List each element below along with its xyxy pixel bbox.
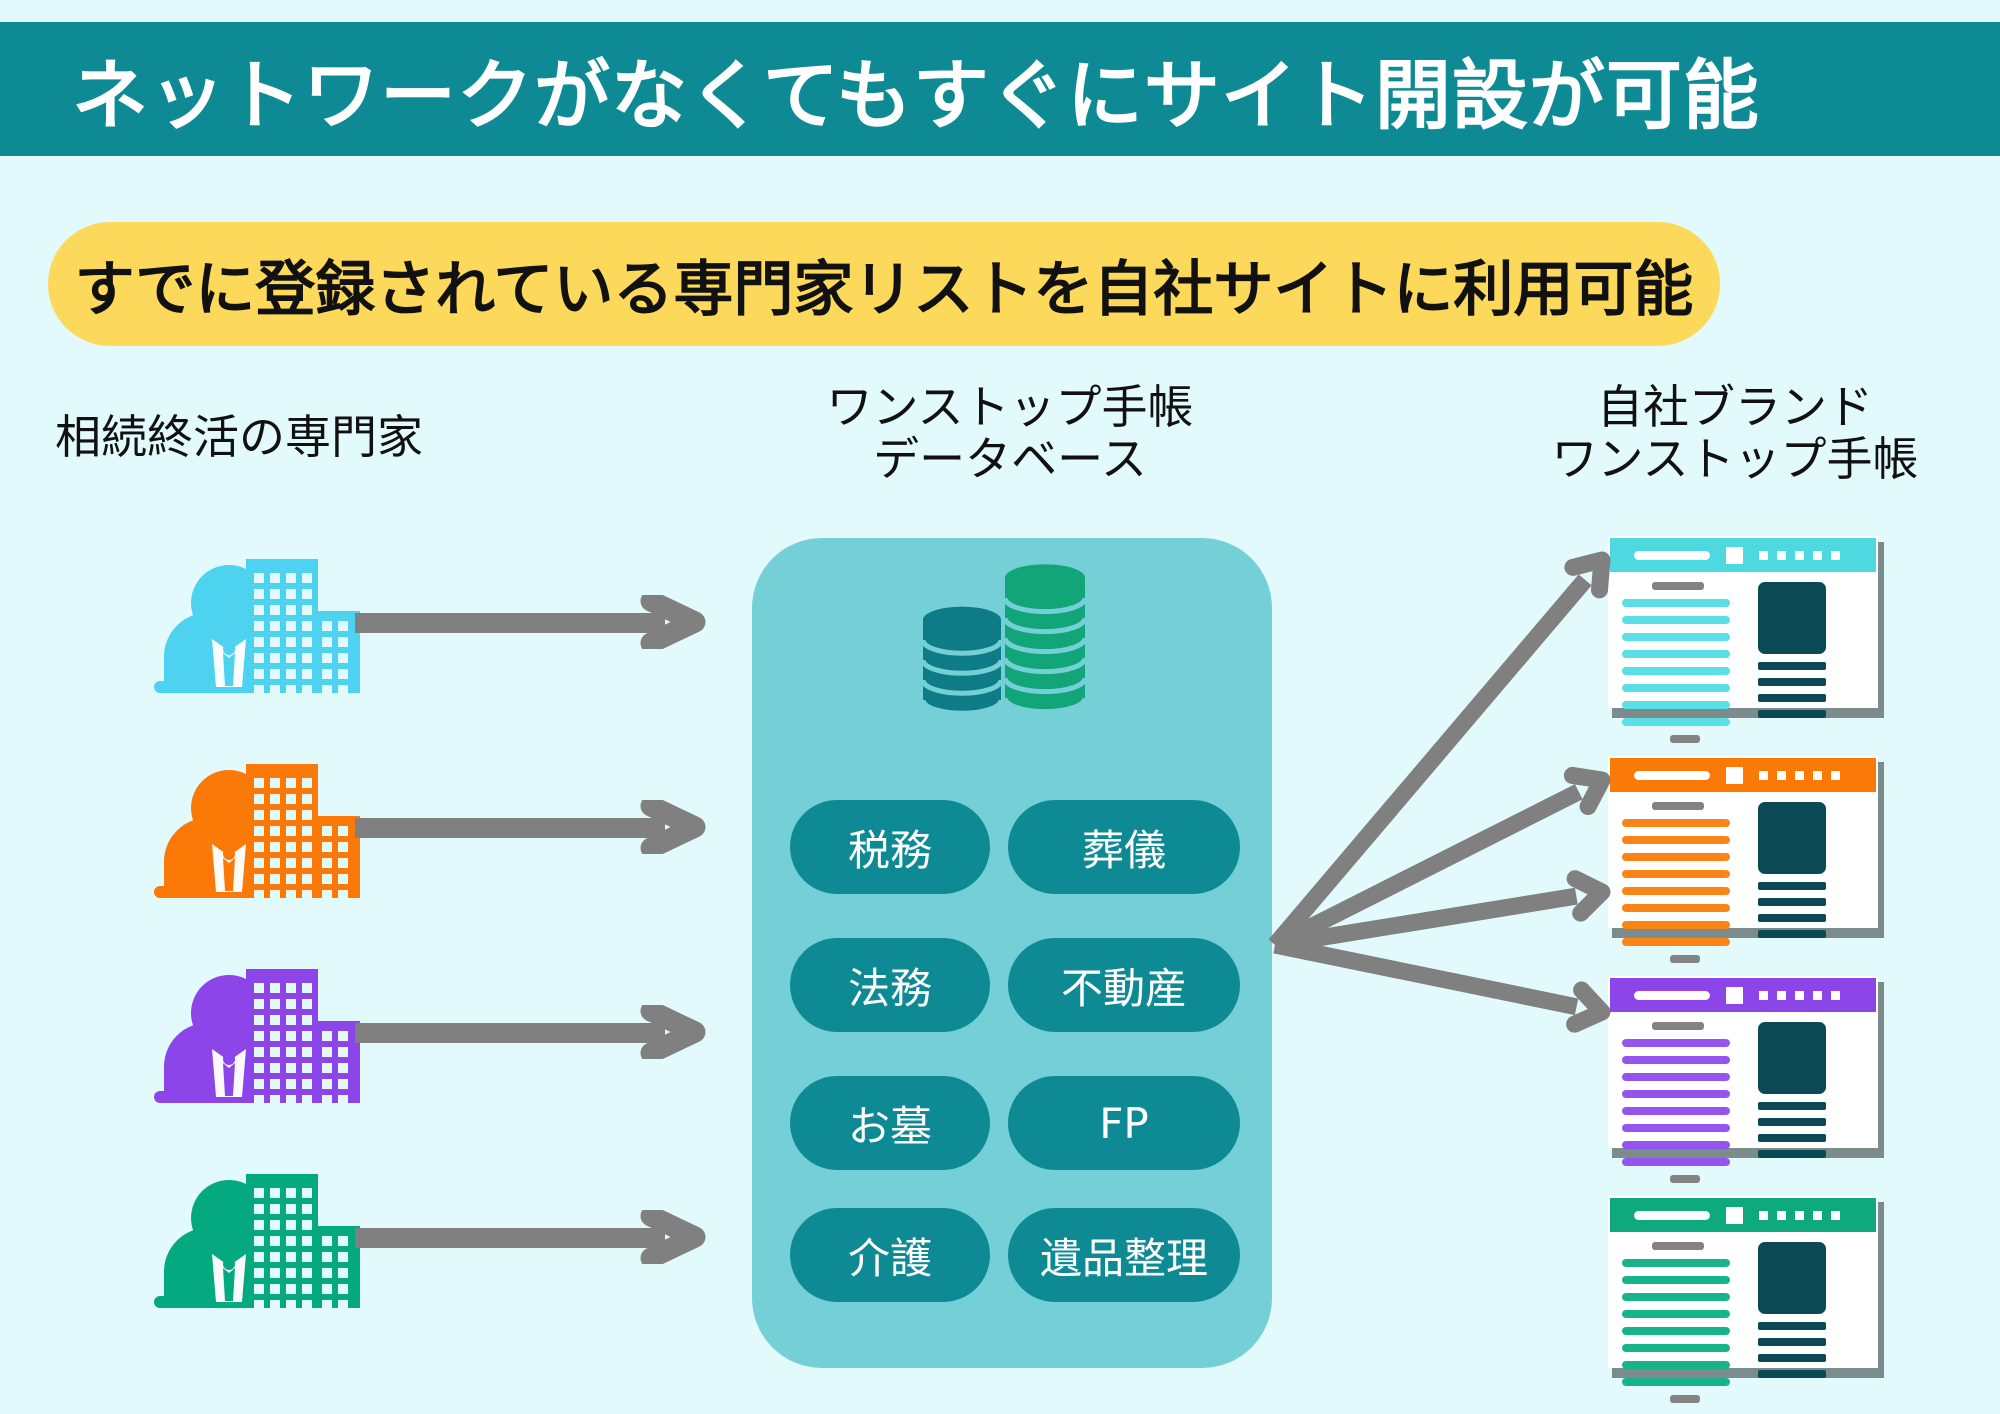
site-image-block xyxy=(1758,1242,1826,1314)
category-pill[interactable]: 遺品整理 xyxy=(1008,1208,1240,1302)
column-header-sites: 自社ブランド ワンストップ手帳 xyxy=(1470,382,2000,485)
sidebar-line xyxy=(1758,914,1826,922)
site-menu-square xyxy=(1726,987,1743,1004)
site-menu-square xyxy=(1726,547,1743,564)
content-line xyxy=(1622,1158,1730,1166)
fan-out-arrows xyxy=(1250,500,1670,1060)
browser-dot xyxy=(1795,551,1804,560)
flow-arrow-to-database xyxy=(355,595,735,649)
column-header-database-line1: ワンストップ手帳 xyxy=(700,382,1320,434)
site-nav-dots xyxy=(1759,771,1849,780)
content-line xyxy=(1622,1310,1730,1318)
sidebar-line xyxy=(1758,1150,1826,1158)
column-header-experts: 相続終活の専門家 xyxy=(55,412,423,464)
site-article-column xyxy=(1622,1242,1730,1403)
browser-dot xyxy=(1831,991,1840,1000)
sidebar-line xyxy=(1758,1134,1826,1142)
content-line xyxy=(1622,1107,1730,1115)
site-card-green[interactable] xyxy=(1608,1196,1878,1368)
browser-dot xyxy=(1831,1211,1840,1220)
sidebar-line xyxy=(1758,1370,1826,1378)
sidebar-line xyxy=(1758,710,1826,718)
content-line xyxy=(1622,1073,1730,1081)
sidebar-line xyxy=(1758,1102,1826,1110)
browser-dot xyxy=(1831,771,1840,780)
browser-dot xyxy=(1777,551,1786,560)
flow-arrow-to-database xyxy=(355,1210,735,1264)
site-body xyxy=(1610,1232,1876,1370)
sidebar-line xyxy=(1758,882,1826,890)
sidebar-line xyxy=(1758,898,1826,906)
browser-dot xyxy=(1795,1211,1804,1220)
sidebar-line xyxy=(1758,694,1826,702)
sidebar-line xyxy=(1758,930,1826,938)
browser-dot xyxy=(1759,551,1768,560)
site-header-bar xyxy=(1610,1198,1876,1232)
content-line xyxy=(1622,1378,1730,1386)
site-logo-pill xyxy=(1634,1211,1710,1220)
site-nav-dots xyxy=(1759,991,1849,1000)
site-footer-bar xyxy=(1670,1395,1700,1403)
site-nav-dots xyxy=(1759,551,1849,560)
category-pill[interactable]: FP xyxy=(1008,1076,1240,1170)
sidebar-line xyxy=(1758,1118,1826,1126)
site-footer-bar xyxy=(1670,1175,1700,1183)
column-header-database: ワンストップ手帳 データベース xyxy=(700,382,1320,485)
flow-arrow-to-database xyxy=(355,800,735,854)
content-line xyxy=(1622,1259,1730,1267)
expert-orange-icon xyxy=(150,760,330,890)
browser-dot xyxy=(1795,771,1804,780)
category-pill[interactable]: 税務 xyxy=(790,800,990,894)
browser-dot xyxy=(1777,771,1786,780)
expert-row xyxy=(150,1170,730,1310)
browser-dot xyxy=(1795,991,1804,1000)
site-media-column xyxy=(1758,582,1830,718)
site-heading-bar xyxy=(1652,1242,1704,1250)
expert-row xyxy=(150,965,730,1105)
site-image-block xyxy=(1758,582,1826,654)
sidebar-line xyxy=(1758,1338,1826,1346)
site-footer-bar xyxy=(1670,735,1700,743)
sidebar-line xyxy=(1758,1322,1826,1330)
site-footer-bar xyxy=(1670,955,1700,963)
category-pill-grid: 税務葬儀法務不動産お墓FP介護遺品整理 xyxy=(790,800,1240,1340)
subtitle-pill: すでに登録されている専門家リストを自社サイトに利用可能 xyxy=(48,222,1720,346)
site-media-column xyxy=(1758,1242,1830,1378)
content-line xyxy=(1622,1276,1730,1284)
browser-dot xyxy=(1813,1211,1822,1220)
category-pill[interactable]: お墓 xyxy=(790,1076,990,1170)
site-image-block xyxy=(1758,1022,1826,1094)
browser-dot xyxy=(1759,771,1768,780)
category-pill[interactable]: 葬儀 xyxy=(1008,800,1240,894)
content-line xyxy=(1622,1327,1730,1335)
content-line xyxy=(1622,1293,1730,1301)
page-title: ネットワークがなくてもすぐにサイト開設が可能 xyxy=(0,34,1760,144)
site-nav-dots xyxy=(1759,1211,1849,1220)
site-image-block xyxy=(1758,802,1826,874)
site-menu-square xyxy=(1726,1207,1743,1224)
category-pill[interactable]: 不動産 xyxy=(1008,938,1240,1032)
database-cylinders-icon xyxy=(895,548,1135,728)
content-line xyxy=(1622,1361,1730,1369)
sidebar-line xyxy=(1758,1354,1826,1362)
sidebar-line xyxy=(1758,662,1826,670)
browser-dot xyxy=(1813,991,1822,1000)
site-media-column xyxy=(1758,1022,1830,1158)
browser-dot xyxy=(1813,771,1822,780)
category-pill[interactable]: 法務 xyxy=(790,938,990,1032)
title-banner: ネットワークがなくてもすぐにサイト開設が可能 xyxy=(0,22,2000,156)
browser-dot xyxy=(1831,551,1840,560)
browser-dot xyxy=(1813,551,1822,560)
column-header-sites-line2: ワンストップ手帳 xyxy=(1470,434,2000,486)
category-pill[interactable]: 介護 xyxy=(790,1208,990,1302)
column-header-sites-line1: 自社ブランド xyxy=(1470,382,2000,434)
content-line xyxy=(1622,1124,1730,1132)
column-header-database-line2: データベース xyxy=(700,434,1320,486)
content-line xyxy=(1622,1344,1730,1352)
expert-cyan-icon xyxy=(150,555,330,685)
site-menu-square xyxy=(1726,767,1743,784)
content-line xyxy=(1622,1090,1730,1098)
expert-green-icon xyxy=(150,1170,330,1300)
expert-row xyxy=(150,760,730,900)
browser-dot xyxy=(1777,991,1786,1000)
subtitle-text: すでに登録されている専門家リストを自社サイトに利用可能 xyxy=(75,241,1694,328)
sidebar-line xyxy=(1758,678,1826,686)
expert-purple-icon xyxy=(150,965,330,1095)
flow-arrow-to-database xyxy=(355,1005,735,1059)
expert-row xyxy=(150,555,730,695)
site-media-column xyxy=(1758,802,1830,938)
browser-dot xyxy=(1759,991,1768,1000)
browser-dot xyxy=(1777,1211,1786,1220)
content-line xyxy=(1622,1141,1730,1149)
browser-dot xyxy=(1759,1211,1768,1220)
